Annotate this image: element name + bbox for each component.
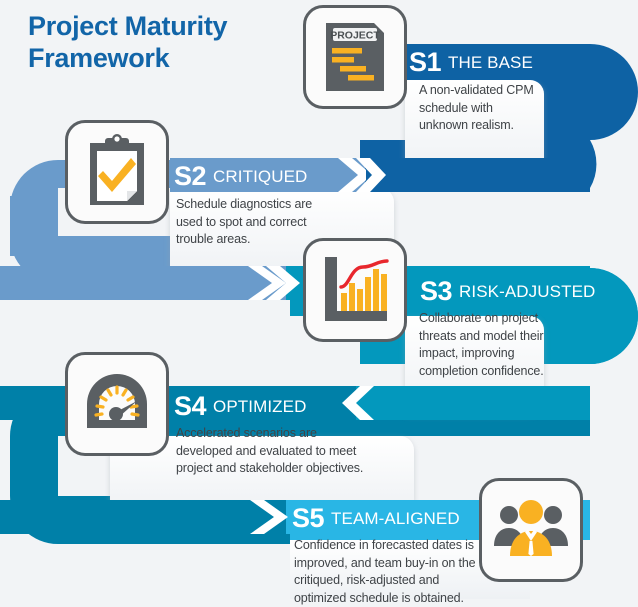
team-people-icon bbox=[492, 498, 570, 562]
stage-name-s2: CRITIQUED bbox=[213, 168, 307, 185]
bar-chart-trend-icon bbox=[317, 253, 393, 327]
stage-icon-tile-s1[interactable]: PROJECT bbox=[303, 5, 407, 109]
stage-name-s4: OPTIMIZED bbox=[213, 398, 306, 415]
stage-icon-tile-s4[interactable] bbox=[65, 352, 169, 456]
stage-band-s4: S4 OPTIMIZED bbox=[174, 389, 307, 423]
stage-number-s4: S4 bbox=[174, 393, 206, 420]
stage-body-s2: Schedule diagnostics are used to spot an… bbox=[176, 196, 326, 249]
stage-band-s2: S2 CRITIQUED bbox=[174, 159, 307, 193]
stage-band-s1: S1 THE BASE bbox=[409, 45, 533, 79]
stage-number-s5: S5 bbox=[292, 505, 324, 532]
stage-icon-tile-s2[interactable] bbox=[65, 120, 169, 224]
stage-number-s2: S2 bbox=[174, 163, 206, 190]
stage-icon-tile-s5[interactable] bbox=[479, 478, 583, 582]
infographic-canvas: Project Maturity Framework PROJECT S1 TH… bbox=[0, 0, 638, 599]
page-title-line1: Project Maturity bbox=[28, 10, 318, 42]
stage-name-s5: TEAM-ALIGNED bbox=[331, 510, 460, 527]
project-document-icon: PROJECT bbox=[318, 19, 392, 95]
stage-number-s3: S3 bbox=[420, 278, 452, 305]
stage-body-s5: Confidence in forecasted dates is improv… bbox=[294, 537, 480, 607]
stage-band-s5: S5 TEAM-ALIGNED bbox=[292, 501, 460, 535]
clipboard-check-icon bbox=[82, 133, 152, 211]
project-document-label: PROJECT bbox=[330, 30, 380, 42]
stage-body-s4: Accelerated scenarios are developed and … bbox=[176, 425, 368, 478]
stage-band-s3: S3 RISK-ADJUSTED bbox=[420, 274, 595, 308]
page-title-line2: Framework bbox=[28, 42, 318, 74]
speedometer-gauge-icon bbox=[79, 368, 155, 440]
stage-name-s3: RISK-ADJUSTED bbox=[459, 283, 595, 300]
stage-body-s3: Collaborate on project threats and model… bbox=[419, 310, 549, 380]
page-title: Project Maturity Framework bbox=[28, 10, 318, 74]
stage-body-s1: A non-validated CPM schedule with unknow… bbox=[419, 82, 537, 135]
stage-icon-tile-s3[interactable] bbox=[303, 238, 407, 342]
stage-name-s1: THE BASE bbox=[448, 54, 533, 71]
stage-number-s1: S1 bbox=[409, 49, 441, 76]
